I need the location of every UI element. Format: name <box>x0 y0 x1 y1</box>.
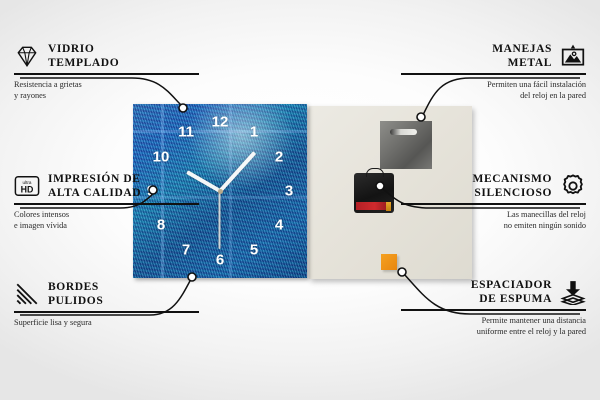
feature-rule <box>401 309 586 311</box>
feature-title-line1: VIDRIO <box>48 42 119 56</box>
svg-text:HD: HD <box>21 185 34 195</box>
feature-espaciador-espuma[interactable]: ESPACIADOR DE ESPUMA Permite mantener un… <box>401 278 586 338</box>
feature-vidrio-templado[interactable]: VIDRIO TEMPLADO Resistencia a grietas y … <box>14 42 199 102</box>
feature-desc-line2: uniforme entre el reloj y la pared <box>401 326 586 337</box>
feature-mecanismo-silencioso[interactable]: MECANISMO SILENCIOSO Las manecillas del … <box>401 172 586 232</box>
connector-dot-vidrio <box>179 104 187 112</box>
feature-desc-line1: Permite mantener una distancia <box>401 315 586 326</box>
feature-rule <box>14 73 199 75</box>
feature-title-line2: ALTA CALIDAD <box>48 186 141 200</box>
feature-desc-line2: no emiten ningún sonido <box>401 220 586 231</box>
feature-desc-line1: Permiten una fácil instalación <box>401 79 586 90</box>
feature-desc-line1: Las manecillas del reloj <box>401 209 586 220</box>
feature-title-line1: ESPACIADOR <box>471 278 552 292</box>
feature-desc-line2: del reloj en la pared <box>401 90 586 101</box>
feature-desc-line1: Superficie lisa y segura <box>14 317 199 328</box>
polished-edge-icon <box>14 281 40 307</box>
diamond-icon <box>14 43 40 69</box>
feature-title-line2: TEMPLADO <box>48 56 119 70</box>
feature-bordes-pulidos[interactable]: BORDES PULIDOS Superficie lisa y segura <box>14 280 199 328</box>
feature-desc-line2: y rayones <box>14 90 199 101</box>
feature-title-line2: SILENCIOSO <box>472 186 552 200</box>
feature-rule <box>401 203 586 205</box>
feature-manejas-metal[interactable]: MANEJAS METAL Permiten una fácil instala… <box>401 42 586 102</box>
connector-dot-manejas <box>417 113 425 121</box>
feature-title-line2: DE ESPUMA <box>471 292 552 306</box>
feature-desc-line1: Colores intensos <box>14 209 199 220</box>
infographic-canvas: 12 1 2 3 4 5 6 7 8 9 10 11 <box>0 0 600 400</box>
framed-picture-icon <box>560 43 586 69</box>
feature-desc-line2: e imagen vívida <box>14 220 199 231</box>
feature-impresion-alta-calidad[interactable]: ultra HD IMPRESIÓN DE ALTA CALIDAD Color… <box>14 172 199 232</box>
gear-icon <box>560 173 586 199</box>
ultra-hd-icon: ultra HD <box>14 173 40 199</box>
feature-rule <box>401 73 586 75</box>
connector-dot-mecanismo <box>376 182 384 190</box>
feature-desc-line1: Resistencia a grietas <box>14 79 199 90</box>
feature-title-line1: BORDES <box>48 280 103 294</box>
feature-rule <box>14 311 199 313</box>
arrow-onto-layers-icon <box>560 279 586 305</box>
feature-title-line2: PULIDOS <box>48 294 103 308</box>
feature-title-line2: METAL <box>492 56 552 70</box>
feature-rule <box>14 203 199 205</box>
connector-dot-espaciador <box>398 268 406 276</box>
feature-title-line1: IMPRESIÓN DE <box>48 172 141 186</box>
feature-title-line1: MECANISMO <box>472 172 552 186</box>
feature-title-line1: MANEJAS <box>492 42 552 56</box>
